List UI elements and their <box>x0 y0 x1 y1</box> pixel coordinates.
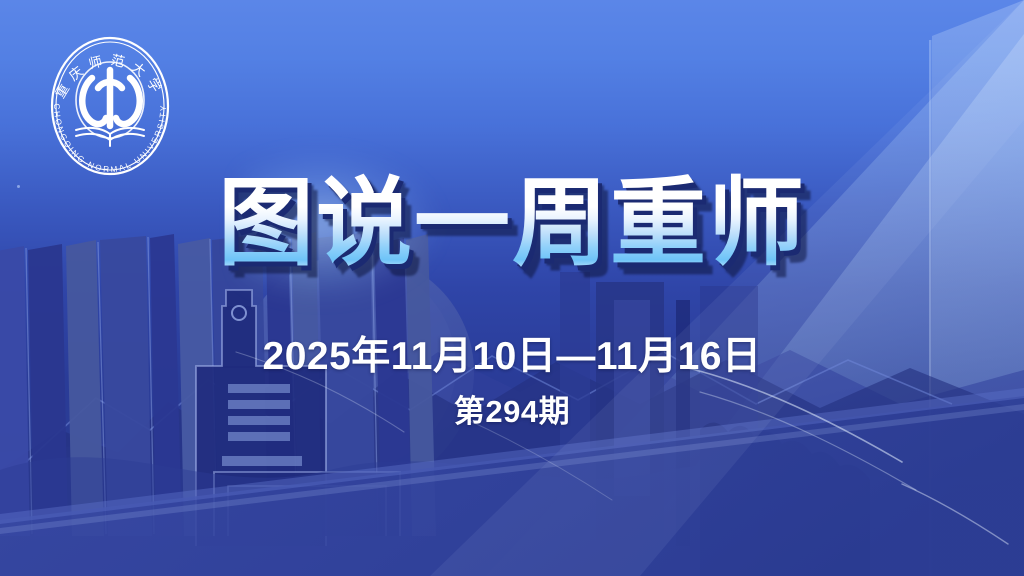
logo-monogram <box>82 70 140 126</box>
poster-canvas: 重庆师范大学 CHONGQING NORMAL UNIVERSITY 图说一周重… <box>0 0 1024 576</box>
logo-book-motif <box>76 128 144 146</box>
university-logo: 重庆师范大学 CHONGQING NORMAL UNIVERSITY <box>34 26 186 184</box>
date-range-text: 2025年11月10日—11月16日 <box>0 325 1024 381</box>
title-block: 图说一周重师 <box>0 172 1024 274</box>
issue-number-text: 第294期 <box>0 386 1024 431</box>
page-title: 图说一周重师 <box>218 172 806 274</box>
